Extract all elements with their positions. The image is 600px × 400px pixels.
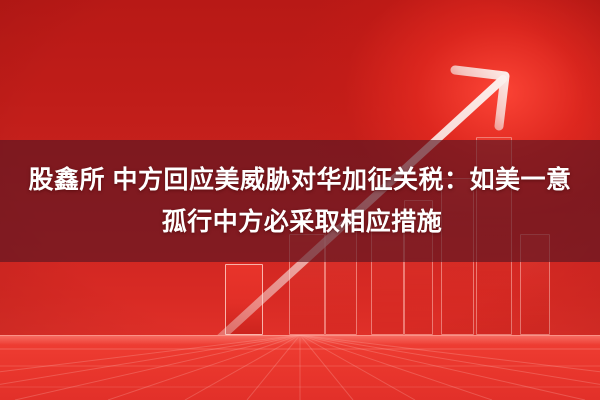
headline-block: 股鑫所 中方回应美威胁对华加征关税：如美一意 孤行中方必采取相应措施 (0, 140, 600, 262)
cover-image-canvas: 股鑫所 中方回应美威胁对华加征关税：如美一意 孤行中方必采取相应措施 (0, 0, 600, 400)
floor-horizon-highlight (0, 335, 600, 345)
headline-line-2: 孤行中方必采取相应措施 (158, 203, 443, 241)
headline-line-1: 股鑫所 中方回应美威胁对华加征关税：如美一意 (29, 161, 572, 199)
